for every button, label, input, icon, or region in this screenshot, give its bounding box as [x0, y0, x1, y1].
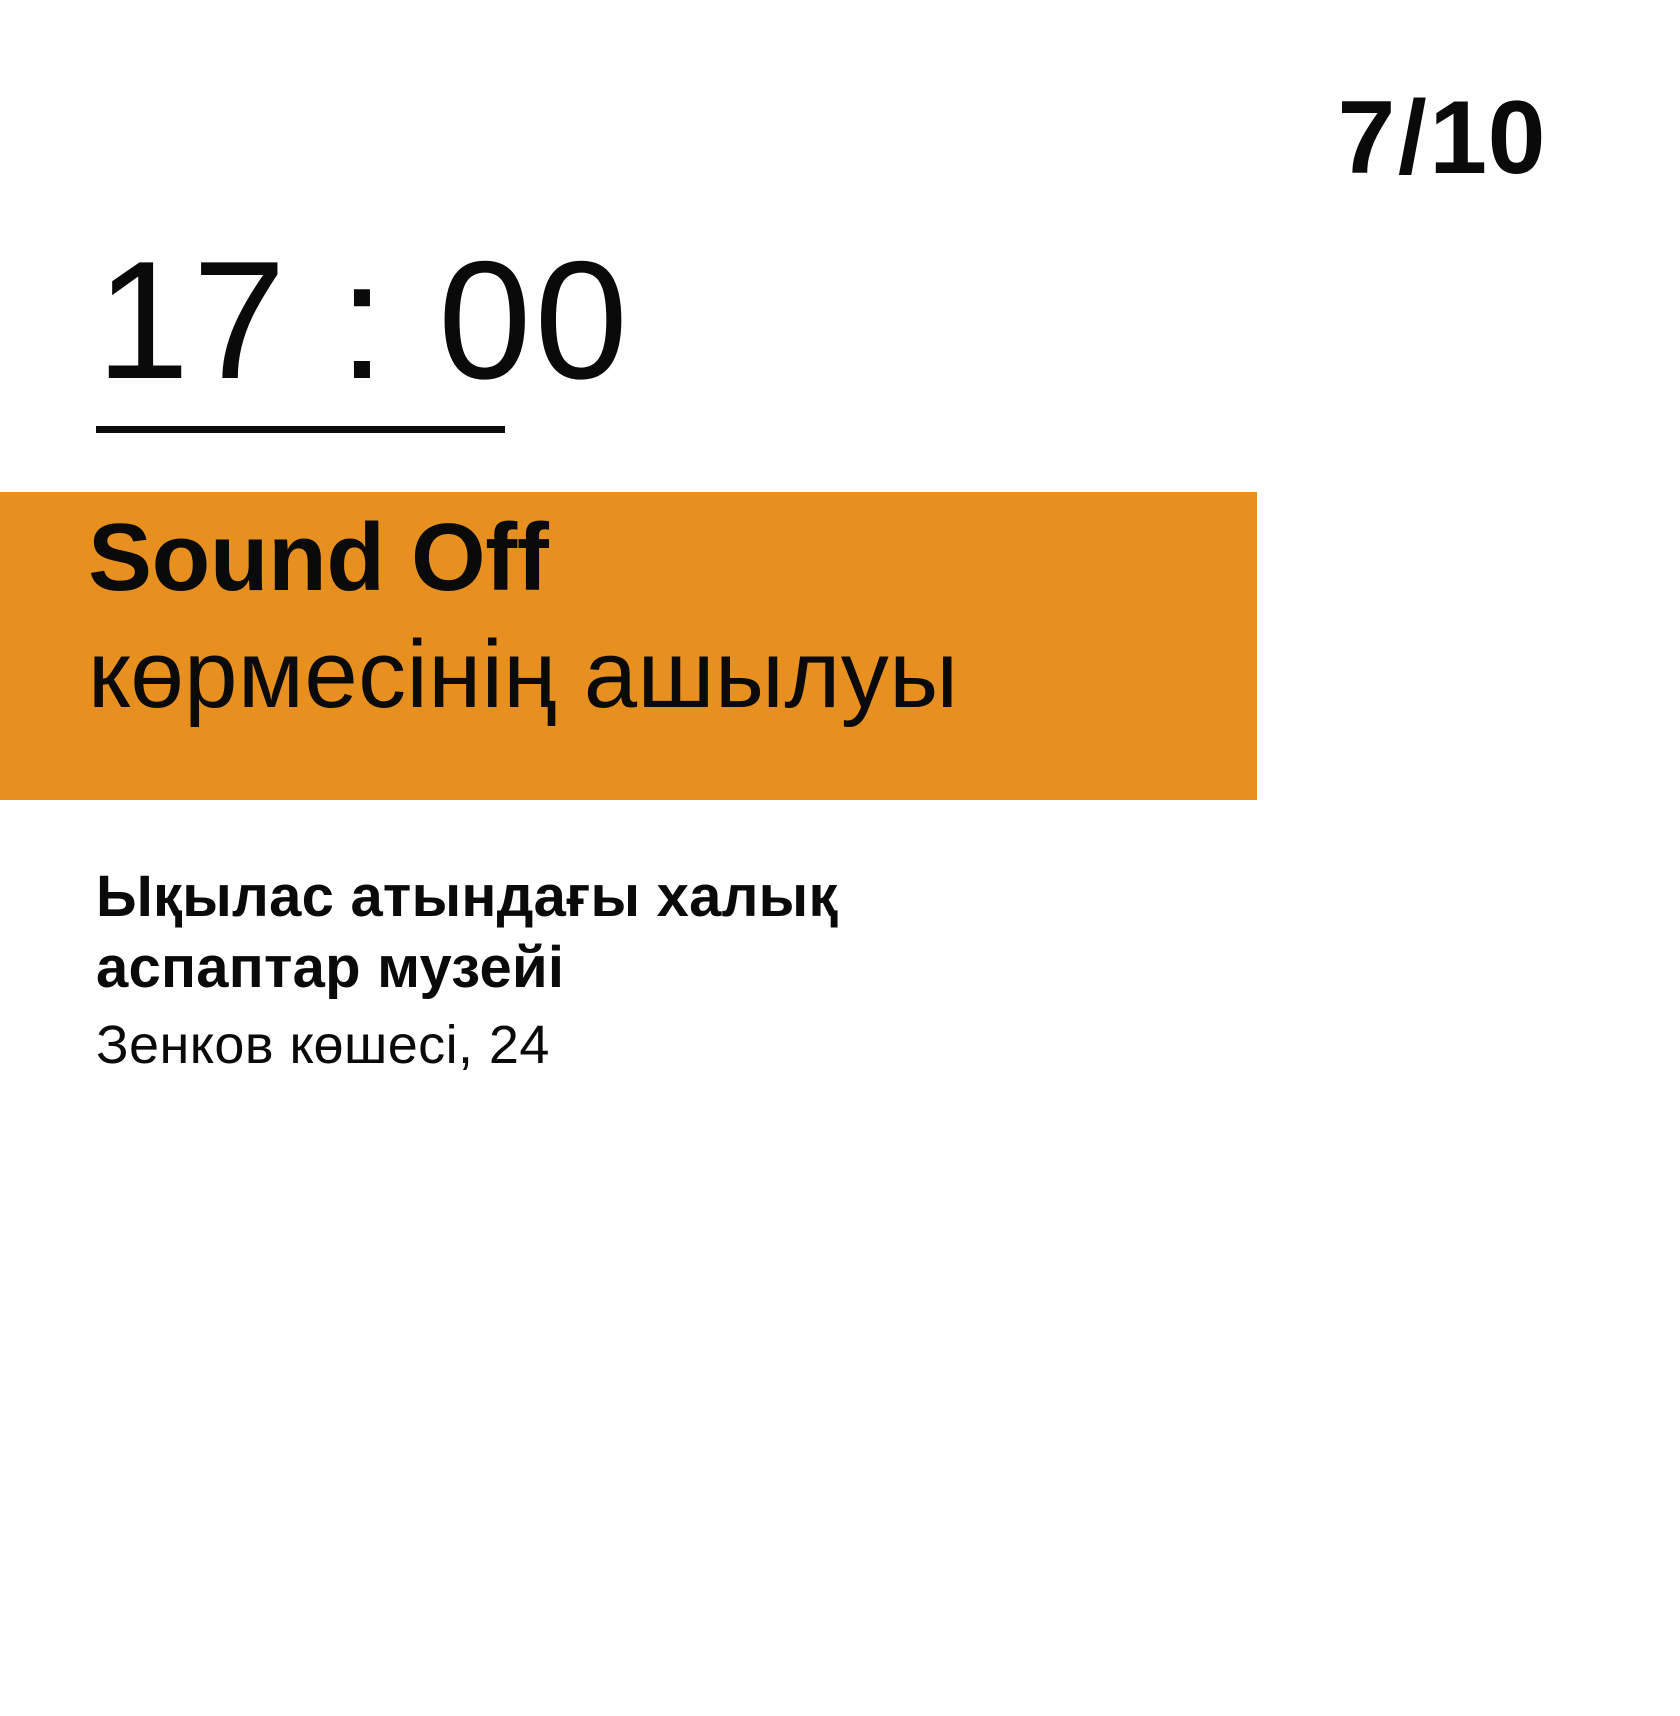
venue-name-line-1: Ықылас атындағы халық — [96, 862, 1196, 933]
event-subtitle: көрмесінің ашылуы — [88, 618, 1233, 731]
time-underline-rule — [96, 426, 505, 433]
event-venue-block: Ықылас атындағы халық аспаптар музейі Зе… — [96, 862, 1196, 1078]
slide-counter-separator: / — [1396, 86, 1429, 190]
slide-counter-current: 7 — [1337, 80, 1395, 196]
venue-name-line-2: аспаптар музейі — [96, 933, 1196, 1004]
event-time-block: 17 : 00 — [96, 236, 696, 433]
venue-address: Зенков көшесі, 24 — [96, 1012, 1196, 1079]
event-title: Sound Off — [88, 504, 1233, 612]
event-poster: 7/10 17 : 00 Sound Off көрмесінің ашылуы… — [0, 0, 1680, 1716]
event-title-band: Sound Off көрмесінің ашылуы — [0, 492, 1257, 800]
slide-counter: 7/10 — [1337, 86, 1546, 190]
event-title-inner: Sound Off көрмесінің ашылуы — [88, 504, 1233, 731]
event-time: 17 : 00 — [96, 236, 696, 404]
venue-name: Ықылас атындағы халық аспаптар музейі — [96, 862, 1196, 1004]
slide-counter-total: 10 — [1429, 80, 1546, 196]
